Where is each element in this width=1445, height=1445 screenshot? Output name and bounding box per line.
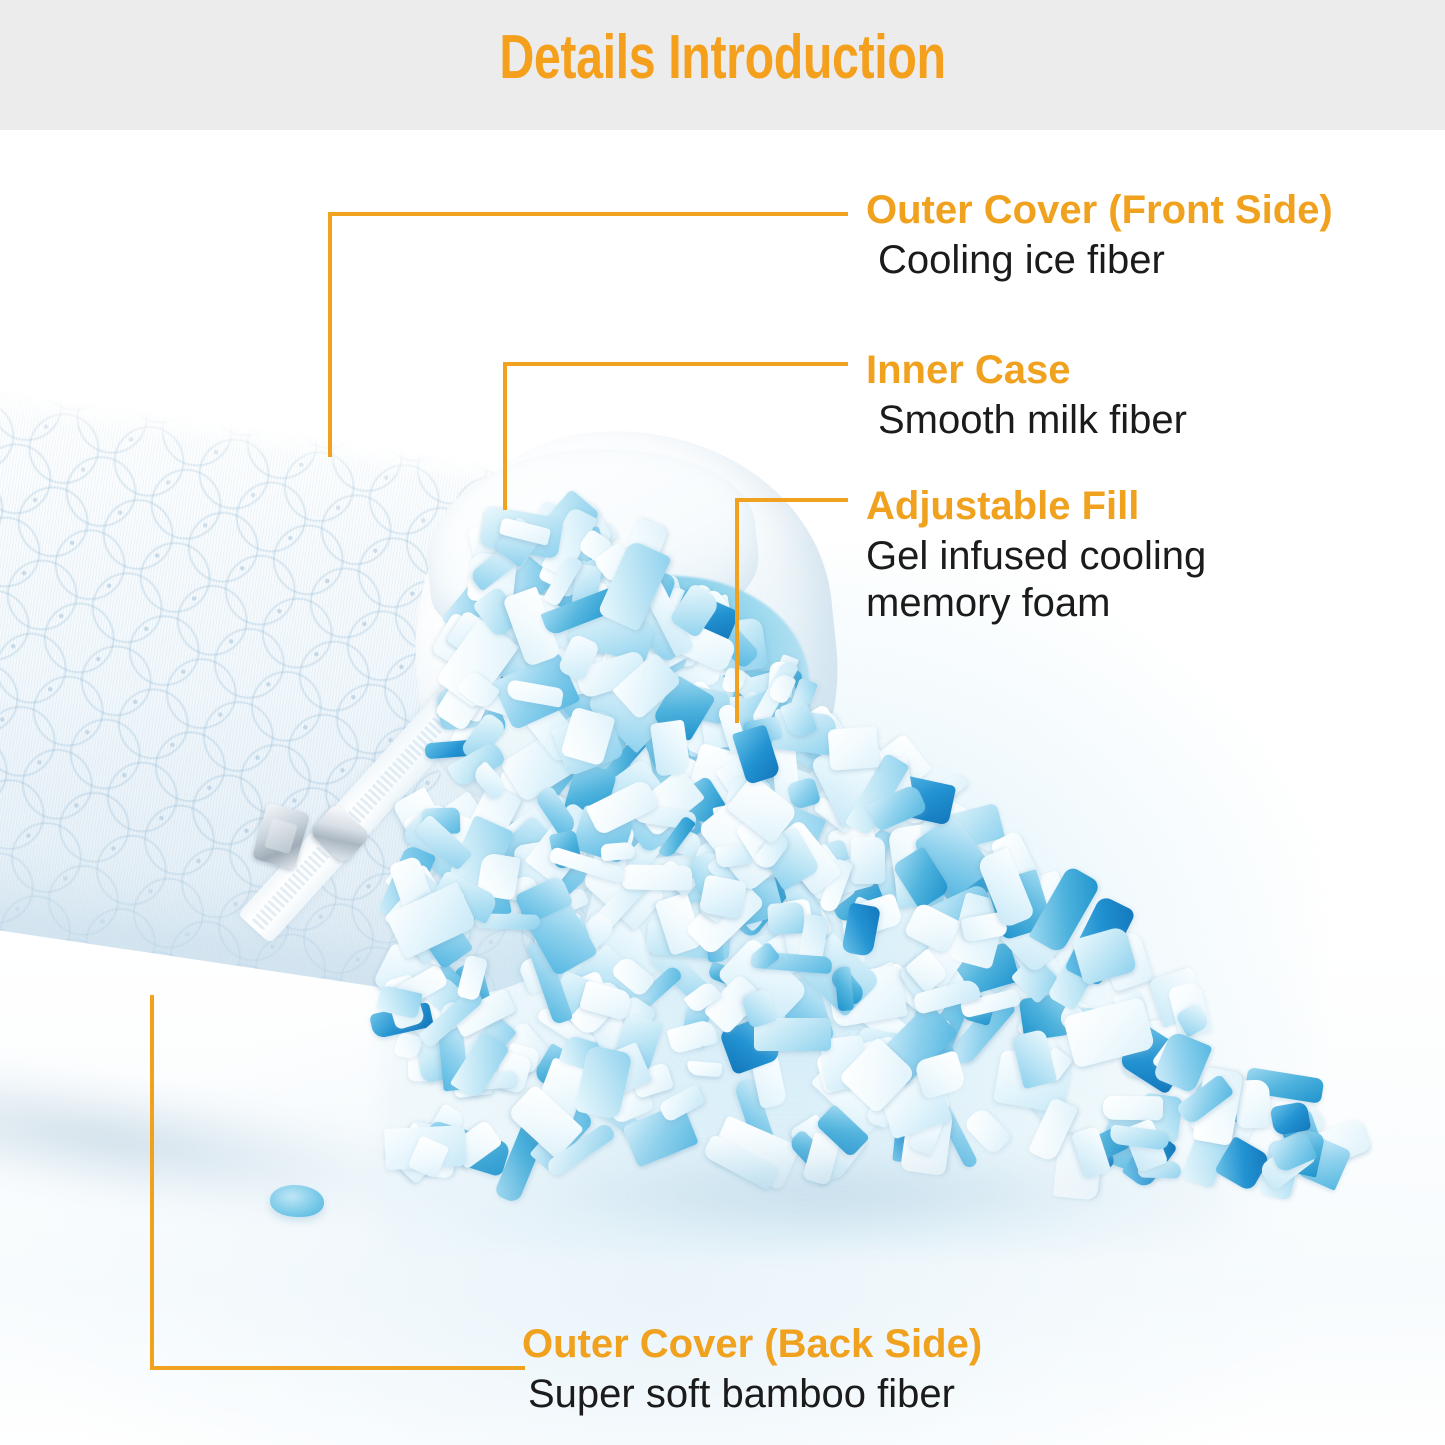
leader-line-adjustable-fill-vertical xyxy=(735,498,739,723)
callout-title-inner-case: Inner Case xyxy=(866,348,1187,393)
foam-pile-shadow xyxy=(430,1140,1230,1250)
callout-title-outer-cover-front: Outer Cover (Front Side) xyxy=(866,188,1333,233)
stray-foam-chip xyxy=(270,1185,324,1217)
foam-chip xyxy=(666,1019,717,1055)
callout-desc-outer-cover-back: Super soft bamboo fiber xyxy=(522,1371,982,1418)
foam-chip xyxy=(600,842,635,862)
callout-title-adjustable-fill: Adjustable Fill xyxy=(866,484,1206,529)
leader-line-adjustable-fill-horizontal xyxy=(735,498,848,502)
foam-chip xyxy=(699,874,747,919)
page-title: Details Introduction xyxy=(159,22,1286,93)
foam-chip xyxy=(686,1061,722,1078)
leader-line-outer-cover-back-horizontal xyxy=(150,1366,525,1370)
callout-inner-case: Inner Case Smooth milk fiber xyxy=(866,348,1187,444)
callout-adjustable-fill: Adjustable Fill Gel infused cooling memo… xyxy=(866,484,1206,627)
callout-outer-cover-front: Outer Cover (Front Side) Cooling ice fib… xyxy=(866,188,1333,284)
callout-desc-outer-cover-front: Cooling ice fiber xyxy=(866,237,1333,284)
leader-line-outer-cover-front-horizontal xyxy=(328,212,848,216)
infographic-page: Details Introduction xyxy=(0,0,1445,1445)
foam-chip xyxy=(851,837,886,884)
foam-chip xyxy=(622,865,692,892)
leader-line-inner-case-vertical xyxy=(503,362,507,510)
foam-chip xyxy=(827,726,878,770)
callout-desc-inner-case: Smooth milk fiber xyxy=(866,397,1187,444)
foam-chip xyxy=(767,902,804,935)
leader-line-inner-case-horizontal xyxy=(503,362,848,366)
callout-title-outer-cover-back: Outer Cover (Back Side) xyxy=(522,1322,982,1367)
callout-outer-cover-back: Outer Cover (Back Side) Super soft bambo… xyxy=(522,1322,982,1418)
foam-chip xyxy=(1270,1101,1312,1136)
leader-line-outer-cover-back-vertical xyxy=(150,995,154,1370)
leader-line-outer-cover-front-vertical xyxy=(328,212,332,457)
product-photo xyxy=(0,130,1445,1445)
foam-chip xyxy=(1103,1095,1163,1120)
callout-desc-adjustable-fill: Gel infused cooling memory foam xyxy=(866,533,1206,627)
